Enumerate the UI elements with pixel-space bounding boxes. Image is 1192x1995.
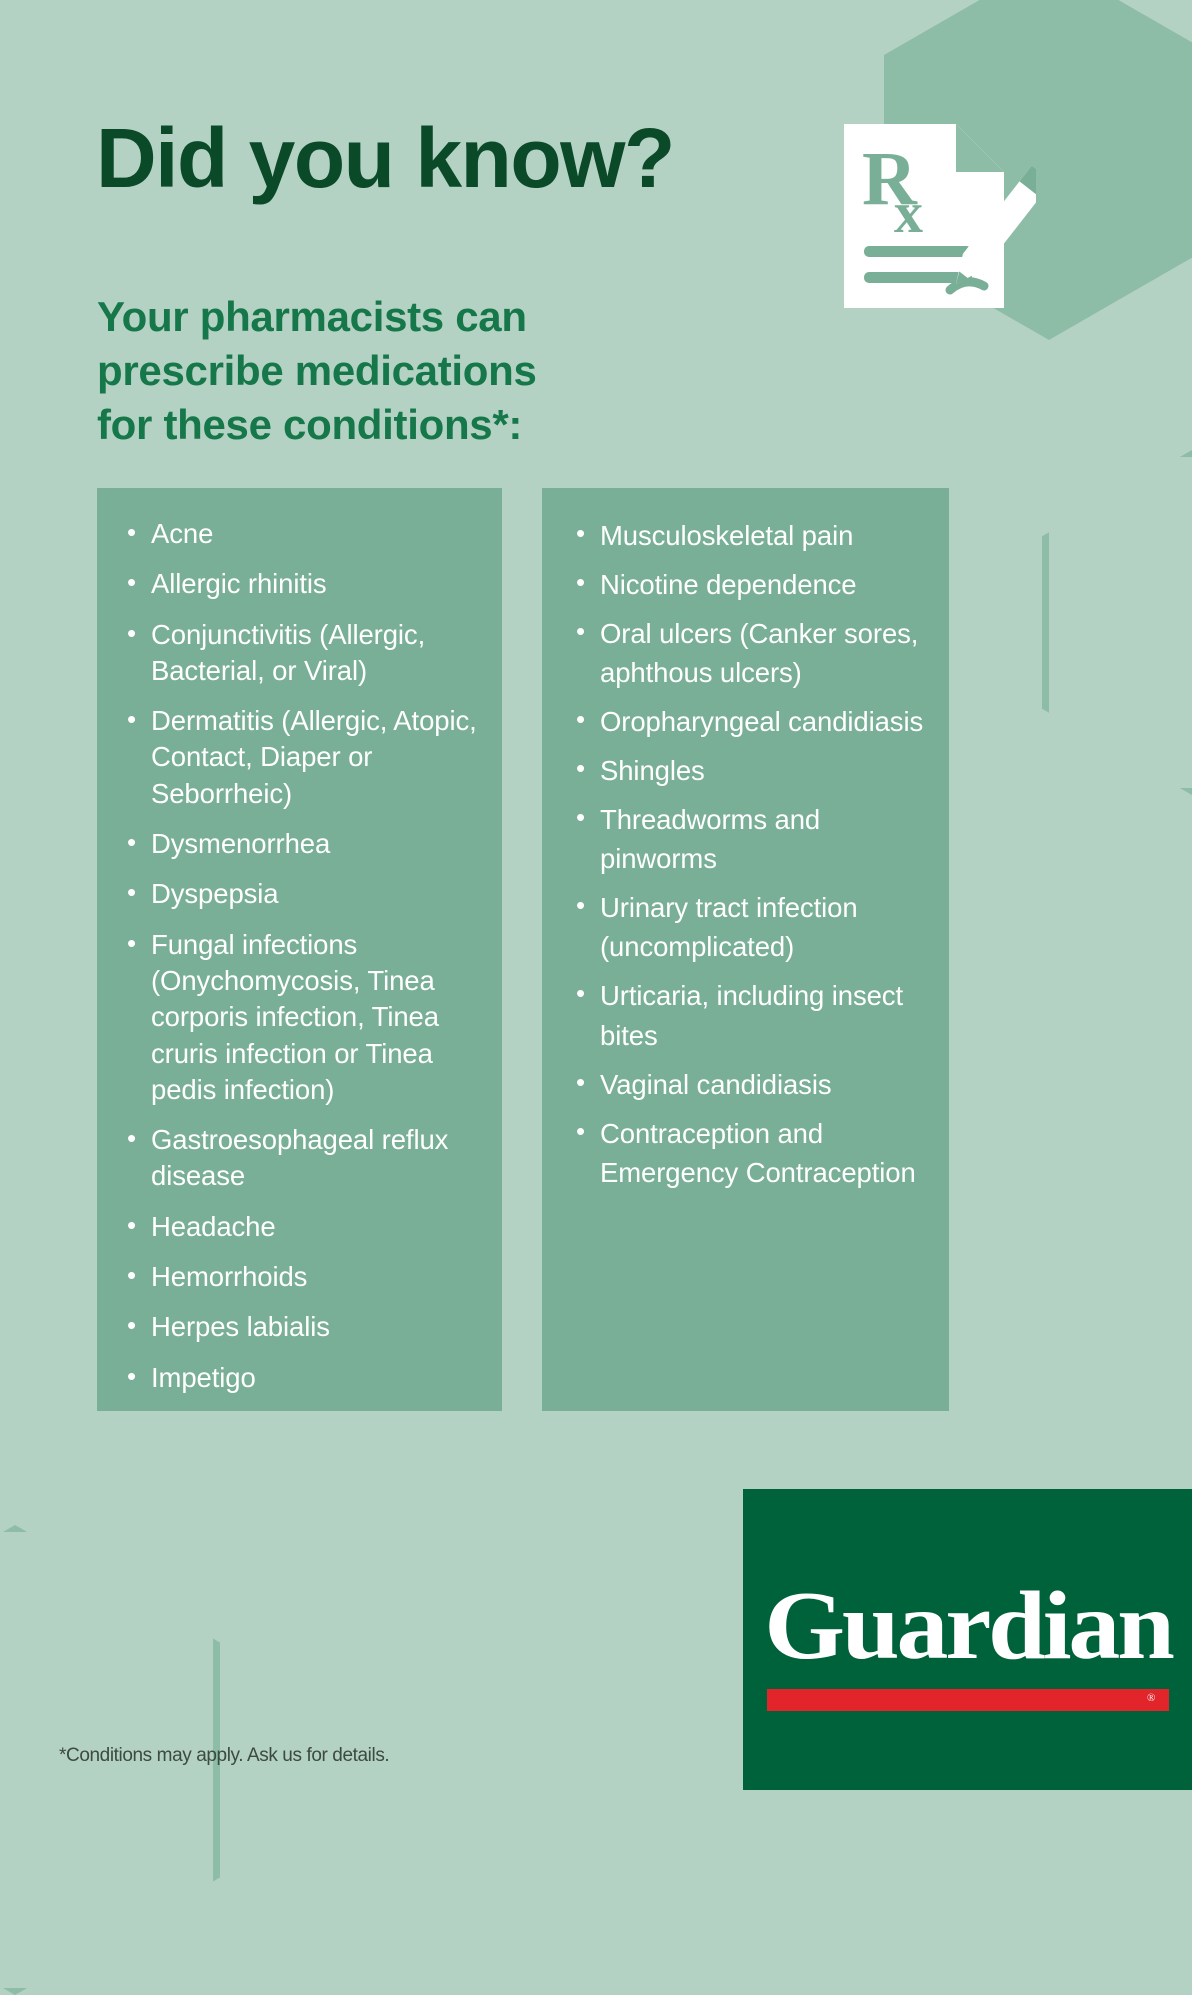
registered-trademark-icon: ® xyxy=(1147,1692,1155,1704)
list-item: Musculoskeletal pain xyxy=(572,516,941,555)
list-item: Vaginal candidiasis xyxy=(572,1065,941,1104)
subtitle-line-2: prescribe medications xyxy=(97,344,537,398)
subtitle: Your pharmacists can prescribe medicatio… xyxy=(97,290,537,451)
conditions-panel-left: Acne Allergic rhinitis Conjunctivitis (A… xyxy=(97,488,502,1411)
subtitle-line-1: Your pharmacists can xyxy=(97,290,537,344)
svg-text:x: x xyxy=(894,180,923,245)
list-item: Oral ulcers (Canker sores, aphthous ulce… xyxy=(572,614,941,692)
list-item: Acne xyxy=(123,516,488,552)
conditions-panel-right: Musculoskeletal pain Nicotine dependence… xyxy=(542,488,949,1411)
list-item: Threadworms and pinworms xyxy=(572,800,941,878)
list-item: Fungal infections (Onychomycosis, Tinea … xyxy=(123,927,488,1108)
list-item: Shingles xyxy=(572,751,941,790)
list-item: Oropharyngeal candidiasis xyxy=(572,702,941,741)
list-item: Dysmenorrhea xyxy=(123,826,488,862)
list-item: Urticaria, including insect bites xyxy=(572,976,941,1054)
list-item: Contraception and Emergency Contraceptio… xyxy=(572,1114,941,1192)
list-item: Dermatitis (Allergic, Atopic, Contact, D… xyxy=(123,703,488,812)
list-item: Conjunctivitis (Allergic, Bacterial, or … xyxy=(123,617,488,690)
prescription-rx-document-icon: R x xyxy=(836,118,1036,328)
list-item: Headache xyxy=(123,1209,488,1245)
brand-red-bar xyxy=(767,1689,1169,1711)
subtitle-line-3: for these conditions*: xyxy=(97,398,537,452)
conditions-list-left: Acne Allergic rhinitis Conjunctivitis (A… xyxy=(97,488,502,1396)
list-item: Urinary tract infection (uncomplicated) xyxy=(572,888,941,966)
list-item: Impetigo xyxy=(123,1360,488,1396)
page-title: Did you know? xyxy=(96,116,674,200)
poster-page: Did you know? Your pharmacists can presc… xyxy=(0,0,1192,1790)
list-item: Gastroesophageal reflux disease xyxy=(123,1122,488,1195)
list-item: Nicotine dependence xyxy=(572,565,941,604)
list-item: Dyspepsia xyxy=(123,876,488,912)
footnote-disclaimer: *Conditions may apply. Ask us for detail… xyxy=(59,1745,389,1767)
brand-wordmark: Guardian xyxy=(751,1577,1186,1675)
list-item: Hemorrhoids xyxy=(123,1259,488,1295)
guardian-logo: Guardian ® xyxy=(743,1489,1192,1790)
list-item: Allergic rhinitis xyxy=(123,566,488,602)
conditions-list-right: Musculoskeletal pain Nicotine dependence… xyxy=(542,488,949,1192)
list-item: Herpes labialis xyxy=(123,1309,488,1345)
